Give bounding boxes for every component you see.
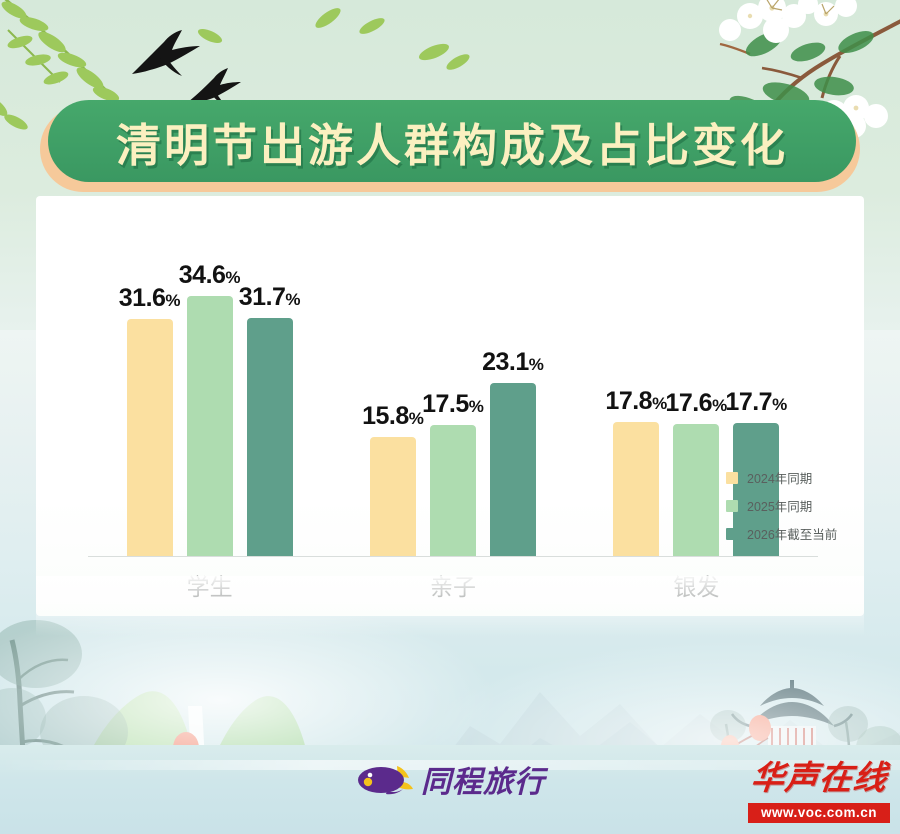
bar-value-label: 17.7% xyxy=(725,388,787,417)
bar-chart: 31.6%34.6%31.7%15.8%17.5%23.1%17.8%17.6%… xyxy=(36,196,864,616)
chart-card: 31.6%34.6%31.7%15.8%17.5%23.1%17.8%17.6%… xyxy=(36,196,864,616)
legend-swatch-icon-2024 xyxy=(726,472,738,484)
legend-label-2026: 2026年截至当前 xyxy=(747,524,837,543)
bar[interactable] xyxy=(187,296,233,556)
bar-value-label: 17.5% xyxy=(422,390,484,419)
title-banner: 清明节出游人群构成及占比变化 xyxy=(40,100,860,192)
bar[interactable] xyxy=(673,424,719,556)
bar-slot: 31.7% xyxy=(247,236,293,556)
legend-item-2025[interactable]: 2025年同期 xyxy=(726,496,837,515)
bar[interactable] xyxy=(370,437,416,556)
category-label-1: 学生 xyxy=(105,568,315,602)
bar-value-label: 15.8% xyxy=(362,402,424,431)
bar-value-label: 17.6% xyxy=(665,389,727,418)
bar[interactable] xyxy=(127,319,173,556)
bar-group-2: 15.8%17.5%23.1% xyxy=(348,236,558,556)
bar-slot: 34.6% xyxy=(187,236,233,556)
banner-body: 清明节出游人群构成及占比变化 xyxy=(48,100,856,182)
poster-root: 清明节出游人群构成及占比变化 31.6%34.6%31.7%15.8%17.5%… xyxy=(0,0,900,834)
bar-slot: 17.8% xyxy=(613,236,659,556)
chart-baseline xyxy=(88,556,818,557)
legend-label-2024: 2024年同期 xyxy=(747,468,812,487)
bar-value-label: 31.6% xyxy=(119,284,181,313)
bar-value-label: 17.8% xyxy=(605,387,667,416)
watermark-url: www.voc.com.cn xyxy=(748,803,890,823)
bars-container: 31.6%34.6%31.7% xyxy=(105,236,315,556)
bar-value-label: 23.1% xyxy=(482,348,544,377)
bar[interactable] xyxy=(247,318,293,556)
watermark-name: 华声在线 xyxy=(746,757,893,801)
tongcheng-bird-icon xyxy=(357,762,413,796)
bar-value-label: 31.7% xyxy=(239,283,301,312)
bar-value-label: 34.6% xyxy=(179,261,241,290)
brand-name: 同程旅行 xyxy=(421,757,545,801)
legend-swatch-icon-2025 xyxy=(726,500,738,512)
bar-groups: 31.6%34.6%31.7%15.8%17.5%23.1%17.8%17.6%… xyxy=(88,236,818,556)
bar-slot: 17.5% xyxy=(430,236,476,556)
category-axis: 学生亲子银发 xyxy=(88,568,818,602)
legend-item-2024[interactable]: 2024年同期 xyxy=(726,468,837,487)
bar-slot: 23.1% xyxy=(490,236,536,556)
legend-swatch-icon-2026 xyxy=(726,528,738,540)
legend-item-2026[interactable]: 2026年截至当前 xyxy=(726,524,837,543)
category-label-3: 银发 xyxy=(591,568,801,602)
legend-label-2025: 2025年同期 xyxy=(747,496,812,515)
bar[interactable] xyxy=(430,425,476,556)
bar-group-1: 31.6%34.6%31.7% xyxy=(105,236,315,556)
watermark: 华声在线 www.voc.com.cn xyxy=(748,757,890,823)
brand-logo: 同程旅行 xyxy=(357,757,545,801)
bar-slot: 31.6% xyxy=(127,236,173,556)
page-title: 清明节出游人群构成及占比变化 xyxy=(116,109,788,174)
bar-slot: 15.8% xyxy=(370,236,416,556)
bar[interactable] xyxy=(490,383,536,556)
bars-container: 15.8%17.5%23.1% xyxy=(348,236,558,556)
bar-slot: 17.6% xyxy=(673,236,719,556)
chart-legend: 2024年同期 2025年同期 2026年截至当前 xyxy=(726,468,837,552)
bar[interactable] xyxy=(613,422,659,556)
category-label-2: 亲子 xyxy=(348,568,558,602)
